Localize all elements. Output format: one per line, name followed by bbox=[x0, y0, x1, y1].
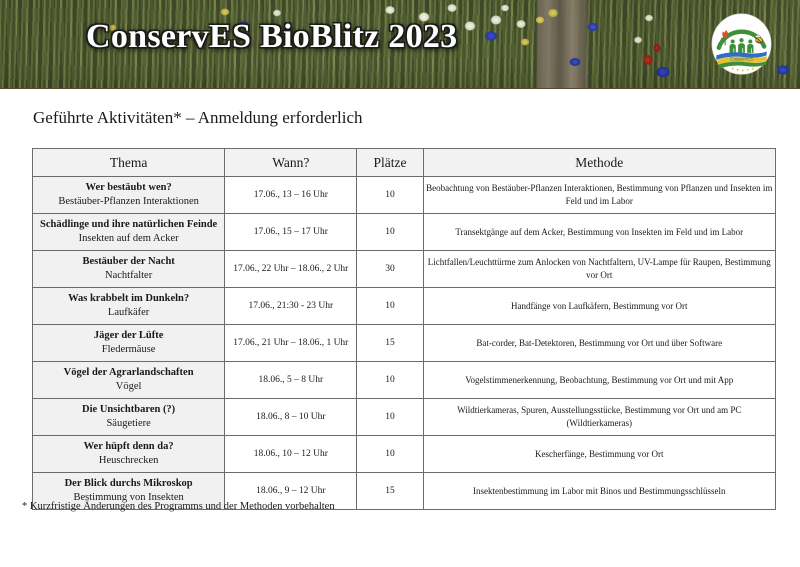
logo-wordmark: ConservES bbox=[730, 56, 753, 62]
cell-methode: Lichtfallen/Leuchttürme zum Anlocken von… bbox=[423, 251, 776, 288]
cell-plaetze: 10 bbox=[357, 362, 423, 399]
cell-methode: Insektenbestimmung im Labor mit Binos un… bbox=[423, 473, 776, 510]
table-row: Jäger der Lüfte Fledermäuse 17.06., 21 U… bbox=[33, 325, 776, 362]
cell-plaetze: 10 bbox=[357, 177, 423, 214]
cell-wann: 18.06., 8 – 10 Uhr bbox=[225, 399, 357, 436]
column-header-plaetze: Plätze bbox=[357, 149, 423, 177]
thema-subtitle: Heuschrecken bbox=[33, 454, 224, 468]
cell-wann: 17.06., 15 – 17 Uhr bbox=[225, 214, 357, 251]
thema-subtitle: Nachtfalter bbox=[33, 269, 224, 283]
cell-thema: Schädlinge und ihre natürlichen Feinde I… bbox=[33, 214, 225, 251]
table-row: Bestäuber der Nacht Nachtfalter 17.06., … bbox=[33, 251, 776, 288]
document-sheet: Geführte Aktivitäten* – Anmeldung erford… bbox=[0, 89, 800, 567]
thema-title: Bestäuber der Nacht bbox=[33, 255, 224, 269]
conserves-logo-icon: ConservES bbox=[710, 12, 773, 76]
thema-title: Wer hüpft denn da? bbox=[33, 440, 224, 454]
cell-thema: Was krabbelt im Dunkeln? Laufkäfer bbox=[33, 288, 225, 325]
thema-title: Was krabbelt im Dunkeln? bbox=[33, 292, 224, 306]
section-heading: Geführte Aktivitäten* – Anmeldung erford… bbox=[33, 108, 363, 128]
thema-title: Der Blick durchs Mikroskop bbox=[33, 477, 224, 491]
cell-wann: 18.06., 10 – 12 Uhr bbox=[225, 436, 357, 473]
column-header-thema: Thema bbox=[33, 149, 225, 177]
thema-title: Wer bestäubt wen? bbox=[33, 181, 224, 195]
cell-wann: 17.06., 13 – 16 Uhr bbox=[225, 177, 357, 214]
thema-subtitle: Vögel bbox=[33, 380, 224, 394]
cell-plaetze: 10 bbox=[357, 288, 423, 325]
table-row: Schädlinge und ihre natürlichen Feinde I… bbox=[33, 214, 776, 251]
cell-methode: Kescherfänge, Bestimmung vor Ort bbox=[423, 436, 776, 473]
cell-methode: Transektgänge auf dem Acker, Bestimmung … bbox=[423, 214, 776, 251]
cell-methode: Wildtierkameras, Spuren, Ausstellungsstü… bbox=[423, 399, 776, 436]
cell-thema: Wer bestäubt wen? Bestäuber-Pflanzen Int… bbox=[33, 177, 225, 214]
thema-title: Vögel der Agrarlandschaften bbox=[33, 366, 224, 380]
cell-plaetze: 10 bbox=[357, 436, 423, 473]
column-header-methode: Methode bbox=[423, 149, 776, 177]
cell-wann: 17.06., 21 Uhr – 18.06., 1 Uhr bbox=[225, 325, 357, 362]
cell-plaetze: 30 bbox=[357, 251, 423, 288]
thema-title: Jäger der Lüfte bbox=[33, 329, 224, 343]
table-header-row: Thema Wann? Plätze Methode bbox=[33, 149, 776, 177]
cell-plaetze: 15 bbox=[357, 325, 423, 362]
footnote: * Kurzfristige Änderungen des Programms … bbox=[22, 501, 335, 512]
thema-subtitle: Fledermäuse bbox=[33, 343, 224, 357]
cell-wann: 17.06., 22 Uhr – 18.06., 2 Uhr bbox=[225, 251, 357, 288]
table-row: Vögel der Agrarlandschaften Vögel 18.06.… bbox=[33, 362, 776, 399]
table-row: Wer hüpft denn da? Heuschrecken 18.06., … bbox=[33, 436, 776, 473]
page-banner: ConservES BioBlitz 2023 bbox=[0, 0, 800, 89]
cell-methode: Beobachtung von Bestäuber-Pflanzen Inter… bbox=[423, 177, 776, 214]
banner-title: ConservES BioBlitz 2023 bbox=[86, 18, 457, 56]
cell-methode: Bat-corder, Bat-Detektoren, Bestimmung v… bbox=[423, 325, 776, 362]
cell-thema: Vögel der Agrarlandschaften Vögel bbox=[33, 362, 225, 399]
column-header-wann: Wann? bbox=[225, 149, 357, 177]
thema-title: Schädlinge und ihre natürlichen Feinde bbox=[33, 218, 224, 232]
cell-plaetze: 10 bbox=[357, 399, 423, 436]
cell-wann: 18.06., 5 – 8 Uhr bbox=[225, 362, 357, 399]
cell-methode: Vogelstimmenerkennung, Beobachtung, Best… bbox=[423, 362, 776, 399]
cell-plaetze: 10 bbox=[357, 214, 423, 251]
table-row: Wer bestäubt wen? Bestäuber-Pflanzen Int… bbox=[33, 177, 776, 214]
thema-subtitle: Säugetiere bbox=[33, 417, 224, 431]
cell-wann: 17.06., 21:30 - 23 Uhr bbox=[225, 288, 357, 325]
thema-subtitle: Laufkäfer bbox=[33, 306, 224, 320]
table-row: Die Unsichtbaren (?) Säugetiere 18.06., … bbox=[33, 399, 776, 436]
cell-thema: Jäger der Lüfte Fledermäuse bbox=[33, 325, 225, 362]
cell-plaetze: 15 bbox=[357, 473, 423, 510]
cell-methode: Handfänge von Laufkäfern, Bestimmung vor… bbox=[423, 288, 776, 325]
thema-subtitle: Bestäuber-Pflanzen Interaktionen bbox=[33, 195, 224, 209]
thema-title: Die Unsichtbaren (?) bbox=[33, 403, 224, 417]
table-row: Was krabbelt im Dunkeln? Laufkäfer 17.06… bbox=[33, 288, 776, 325]
cell-thema: Wer hüpft denn da? Heuschrecken bbox=[33, 436, 225, 473]
cell-thema: Die Unsichtbaren (?) Säugetiere bbox=[33, 399, 225, 436]
thema-subtitle: Insekten auf dem Acker bbox=[33, 232, 224, 246]
cell-thema: Bestäuber der Nacht Nachtfalter bbox=[33, 251, 225, 288]
activities-table: Thema Wann? Plätze Methode Wer bestäubt … bbox=[32, 148, 776, 510]
